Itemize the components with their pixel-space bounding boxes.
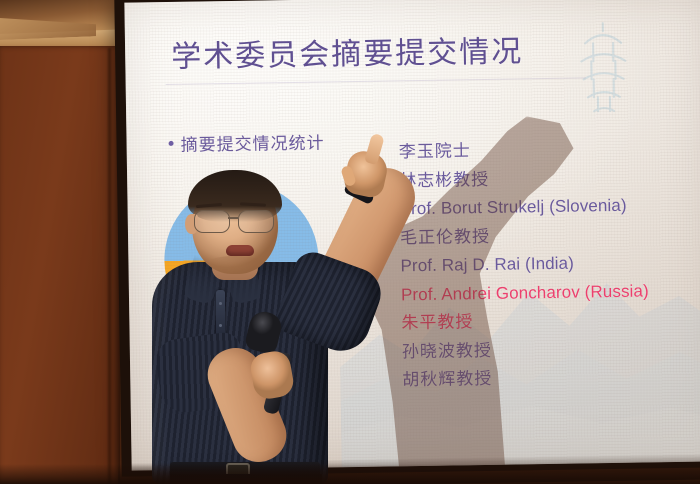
shirt-button (219, 324, 222, 327)
glasses-lens-right (238, 210, 274, 233)
photo-scene: 学术委员会摘要提交情况 摘要提交情况统计 1 已提交 李玉院士 林志彬教授 Pr… (0, 0, 700, 484)
shirt-button (219, 302, 222, 305)
speaker-figure (100, 140, 520, 484)
glasses-icon (192, 210, 280, 232)
glasses-bridge (228, 217, 238, 219)
trousers (170, 474, 322, 484)
glasses-lens-left (194, 210, 230, 233)
pagoda-tower-watermark (557, 16, 651, 121)
slide-title: 学术委员会摘要提交情况 (171, 26, 524, 76)
speaker-mouth (226, 245, 254, 256)
title-divider (166, 77, 586, 85)
chin-shading (204, 256, 266, 274)
ceiling-notch (0, 14, 96, 40)
